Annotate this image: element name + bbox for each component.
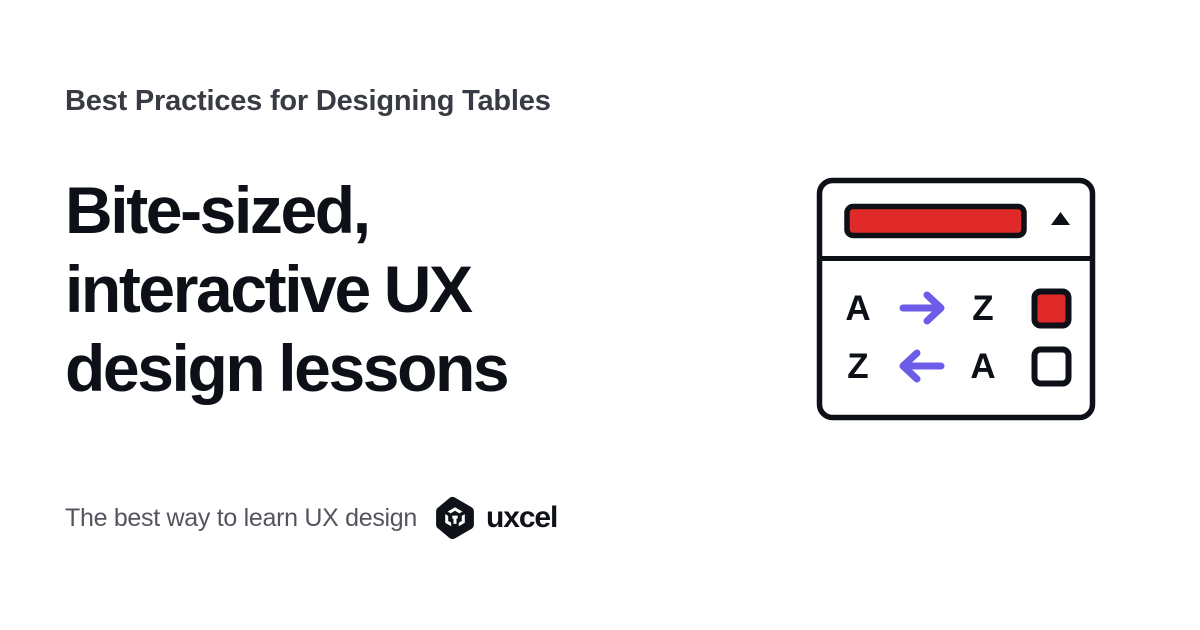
brand-wordmark: uxcel [486, 501, 557, 535]
brand-lockup: uxcel [433, 496, 557, 540]
og-share-card: Best Practices for Designing Tables Bite… [0, 0, 1200, 630]
row-1-checkbox [1035, 292, 1069, 326]
table-sort-dropdown-illustration: A Z Z A [815, 175, 1097, 423]
uxcel-hexagon-logo-icon [433, 496, 477, 540]
text-column: Best Practices for Designing Tables Bite… [65, 84, 765, 452]
row-2-checkbox [1035, 350, 1069, 384]
row-2-from-letter: Z [847, 347, 868, 386]
row-2-to-letter: A [970, 347, 995, 386]
sort-field-bar [847, 207, 1024, 236]
page-title: Bite-sized, interactive UX design lesson… [65, 171, 585, 408]
footer-tagline: The best way to learn UX design [65, 504, 417, 533]
eyebrow-lesson-title: Best Practices for Designing Tables [65, 84, 765, 119]
row-1-to-letter: Z [972, 289, 993, 328]
footer: The best way to learn UX design uxcel [65, 497, 557, 539]
row-1-from-letter: A [845, 289, 870, 328]
